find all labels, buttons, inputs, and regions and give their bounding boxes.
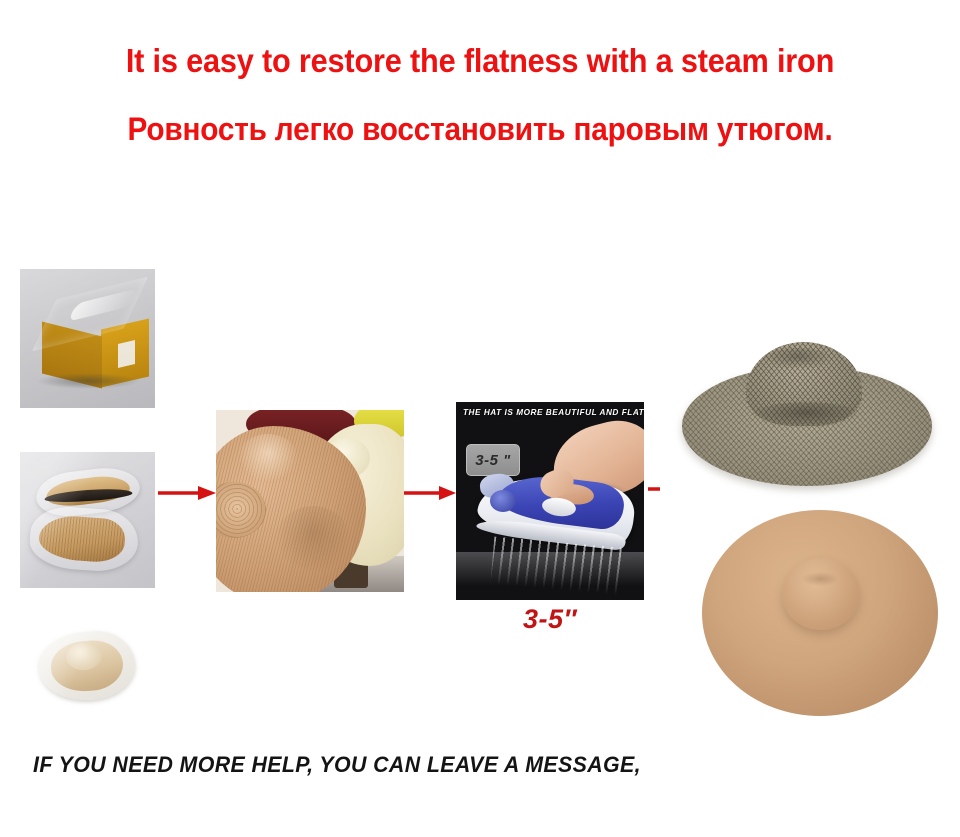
iron-steam-knob <box>490 490 516 512</box>
photo-steam-iron: THE HAT IS MORE BEAUTIFUL AND FLAT 3-5 " <box>456 402 644 600</box>
photo-shipping-box <box>20 269 155 408</box>
sealed-bag-lower <box>28 504 140 573</box>
box-shipping-label <box>118 340 135 368</box>
box-drop-shadow <box>36 373 140 389</box>
vacuum-pack-sheen <box>25 622 150 712</box>
duration-badge: 3-5 " <box>466 444 520 476</box>
straw-hat-crown-dent <box>764 348 832 370</box>
tan-hat-rim-shading <box>702 510 938 716</box>
hat-crease-shadow <box>276 506 350 572</box>
hat-crease-highlight <box>238 434 298 482</box>
photo-woven-straw-hat <box>660 330 950 500</box>
steam-jets <box>490 537 622 596</box>
duration-badge-label: 3-5 " <box>475 452 510 469</box>
arrow-crumpled-to-iron <box>404 482 456 504</box>
photo-crumpled-hats <box>216 410 404 592</box>
iron-panel-caption: THE HAT IS MORE BEAUTIFUL AND FLAT <box>463 408 639 417</box>
headline-russian: Ровность легко восстановить паровым утюг… <box>34 110 927 148</box>
straw-hat-crown-shadow <box>752 402 860 428</box>
photo-tan-hat <box>690 500 952 730</box>
duration-caption: 3-5″ <box>456 604 644 635</box>
headline-english: It is easy to restore the flatness with … <box>34 42 927 80</box>
photo-vacuum-pack-flat <box>25 622 150 712</box>
arrow-packaging-to-crumpled <box>158 482 216 504</box>
photo-vacuum-sealed-hats <box>20 452 155 588</box>
poster-canvas: It is easy to restore the flatness with … <box>0 0 960 837</box>
sealed-hat-lower <box>38 514 127 564</box>
footer-help-note: IF YOU NEED MORE HELP, YOU CAN LEAVE A M… <box>33 752 641 778</box>
